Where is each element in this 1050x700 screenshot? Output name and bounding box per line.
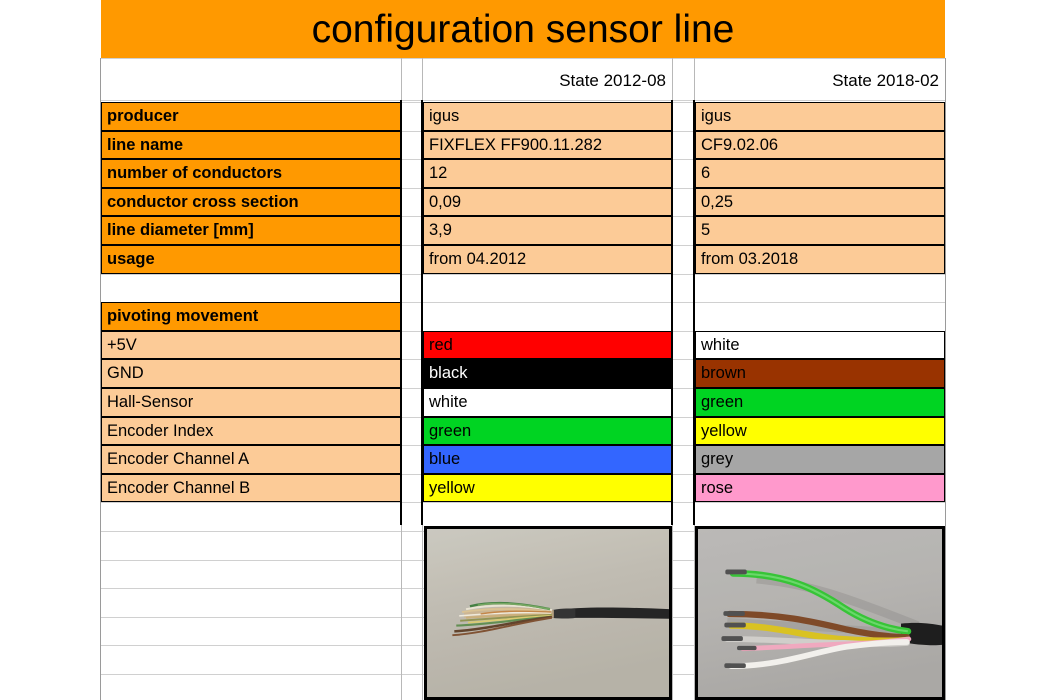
wire-color-2018-4: grey [695,445,945,474]
wire-color-2018-1: brown [695,359,945,388]
spreadsheet-canvas: configuration sensor line State 2012-08 … [0,0,1050,700]
page-title-bar: configuration sensor line [101,0,945,58]
cable-2018-photo-graphic [698,529,942,697]
signal-label-1: GND [101,359,401,388]
column-header-2012: State 2012-08 [423,60,672,100]
value-2018-5: from 03.2018 [695,245,945,274]
cable-2012-photo [424,526,672,700]
value-2012-2: 12 [423,159,672,188]
wire-color-2012-3: green [423,417,672,446]
grid-hline [101,274,945,275]
row-label-1: line name [101,131,401,160]
row-label-5: usage [101,245,401,274]
grid-vline [945,58,946,700]
wire-color-2012-0: red [423,331,672,360]
wire-color-2012-1: black [423,359,672,388]
row-label-3: conductor cross section [101,188,401,217]
column-header-2018: State 2018-02 [695,60,945,100]
grid-hline [101,58,945,59]
section-heading-pivoting-movement: pivoting movement [101,302,401,331]
row-label-2: number of conductors [101,159,401,188]
signal-label-5: Encoder Channel B [101,474,401,503]
page-title: configuration sensor line [312,10,735,49]
wire-color-2012-4: blue [423,445,672,474]
wire-color-2012-2: white [423,388,672,417]
wire-color-2018-3: yellow [695,417,945,446]
value-2018-4: 5 [695,216,945,245]
value-2018-0: igus [695,102,945,131]
signal-label-3: Encoder Index [101,417,401,446]
row-label-0: producer [101,102,401,131]
value-2012-4: 3,9 [423,216,672,245]
value-2012-5: from 04.2012 [423,245,672,274]
value-2012-1: FIXFLEX FF900.11.282 [423,131,672,160]
value-2012-3: 0,09 [423,188,672,217]
value-2018-2: 6 [695,159,945,188]
wire-color-2018-2: green [695,388,945,417]
value-2018-3: 0,25 [695,188,945,217]
wire-color-2018-5: rose [695,474,945,503]
wire-color-2018-0: white [695,331,945,360]
row-label-4: line diameter [mm] [101,216,401,245]
grid-hline [101,100,945,101]
wire-color-2012-5: yellow [423,474,672,503]
value-2012-0: igus [423,102,672,131]
cable-2018-photo [695,526,945,700]
signal-label-4: Encoder Channel A [101,445,401,474]
signal-label-2: Hall-Sensor [101,388,401,417]
value-2018-1: CF9.02.06 [695,131,945,160]
signal-label-0: +5V [101,331,401,360]
cable-2012-photo-graphic [427,529,669,697]
